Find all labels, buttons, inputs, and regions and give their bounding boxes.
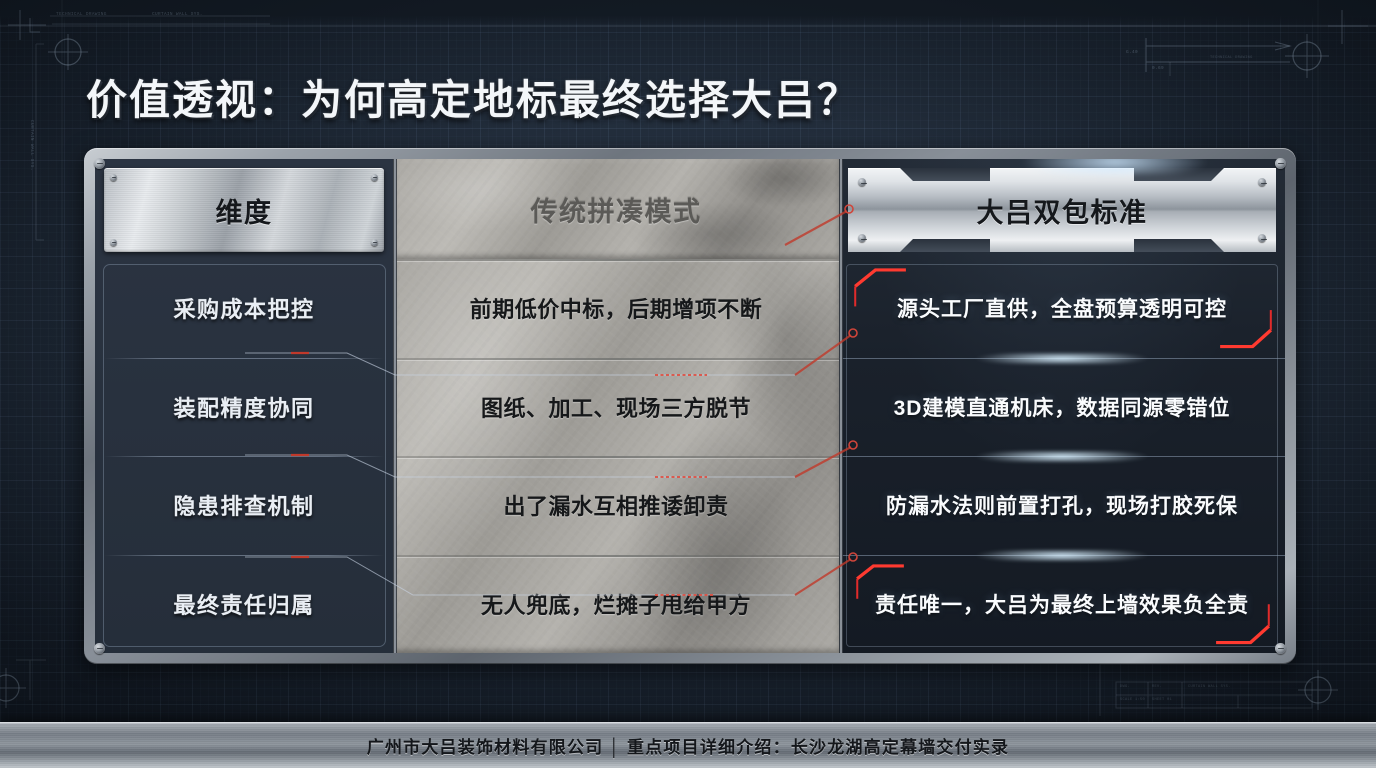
cell-daliu-3: 防漏水法则前置打孔，现场打胶死保 [886, 490, 1238, 520]
table-row[interactable]: 出了漏水互相推诿卸责 [393, 456, 839, 555]
row-separator [839, 358, 1285, 359]
cell-traditional-4: 无人兜底，烂摊子甩给甲方 [481, 588, 751, 620]
plate-screw-icon [371, 239, 378, 246]
table-row[interactable]: 隐患排查机制 [95, 456, 393, 555]
row-separator [393, 259, 839, 261]
header-cell-daliu: 大吕双包标准 [839, 159, 1285, 259]
table-row[interactable]: 防漏水法则前置打孔，现场打胶死保 [839, 456, 1285, 555]
cell-traditional-3: 出了漏水互相推诿卸责 [503, 489, 728, 521]
cell-dimension-4: 最终责任归属 [173, 588, 314, 620]
cell-traditional-1: 前期低价中标，后期增项不断 [470, 292, 763, 324]
row-separator [104, 358, 384, 359]
column-body-dimension: 采购成本把控 装配精度协同 隐患排查机制 最终责任归属 [95, 259, 393, 653]
plate-screw-icon [371, 174, 378, 181]
table-row[interactable]: 源头工厂直供，全盘预算透明可控 [839, 259, 1285, 358]
row-separator [839, 456, 1285, 457]
header-label-dimension: 维度 [216, 191, 273, 230]
comparison-table: 维度 采购成本把控 装配精度协同 隐患排查机制 [95, 159, 1285, 653]
cell-dimension-2: 装配精度协同 [173, 391, 314, 423]
cell-daliu-2: 3D建模直通机床，数据同源零错位 [894, 392, 1231, 422]
header-label-traditional: 传统拼凑模式 [531, 190, 702, 229]
column-body-daliu: 源头工厂直供，全盘预算透明可控 3D建模直通机床，数据同源零错位 防漏水法则前置… [839, 259, 1285, 653]
plate-screw-icon [110, 239, 117, 246]
chrome-corner-notch [1134, 239, 1224, 252]
brushed-metal-plate: 维度 [104, 168, 384, 252]
frame-screw-icon [1275, 158, 1286, 169]
frame-screw-icon [1275, 643, 1286, 654]
polished-chrome-plate: 大吕双包标准 [848, 168, 1276, 252]
header-label-daliu: 大吕双包标准 [977, 191, 1148, 230]
cell-daliu-1: 源头工厂直供，全盘预算透明可控 [897, 293, 1227, 323]
header-cell-traditional: 传统拼凑模式 [393, 159, 839, 259]
column-traditional: 传统拼凑模式 前期低价中标，后期增项不断 图纸、加工、现场三方脱节 [393, 159, 839, 653]
row-separator [393, 555, 839, 557]
column-divider [839, 159, 843, 653]
cell-daliu-4: 责任唯一，大吕为最终上墙效果负全责 [875, 589, 1249, 619]
comparison-table-frame: 维度 采购成本把控 装配精度协同 隐患排查机制 [84, 148, 1296, 664]
row-separator [104, 555, 384, 556]
table-row[interactable]: 无人兜底，烂摊子甩给甲方 [393, 555, 839, 654]
cell-traditional-2: 图纸、加工、现场三方脱节 [481, 391, 751, 423]
frame-screw-icon [94, 158, 105, 169]
table-row[interactable]: 最终责任归属 [95, 555, 393, 654]
footer-text: 广州市大吕装饰材料有限公司 │ 重点项目详细介绍：长沙龙湖高定幕墙交付实录 [367, 733, 1009, 758]
plate-screw-icon [858, 234, 866, 242]
plate-screw-icon [1258, 178, 1266, 186]
frame-screw-icon [94, 643, 105, 654]
table-row[interactable]: 前期低价中标，后期增项不断 [393, 259, 839, 358]
column-divider [393, 159, 397, 653]
column-daliu: 大吕双包标准 源头工厂直供，全盘预算透明可控 [839, 159, 1285, 653]
concrete-slab-header: 传统拼凑模式 [393, 159, 839, 259]
chrome-corner-notch [900, 168, 990, 181]
row-separator [839, 555, 1285, 556]
table-row[interactable]: 3D建模直通机床，数据同源零错位 [839, 358, 1285, 457]
plate-screw-icon [858, 178, 866, 186]
row-separator [393, 358, 839, 360]
row-separator [393, 456, 839, 458]
column-body-traditional: 前期低价中标，后期增项不断 图纸、加工、现场三方脱节 出了漏水互相推诿卸责 无人… [393, 259, 839, 653]
row-separator [104, 456, 384, 457]
cell-dimension-1: 采购成本把控 [173, 292, 314, 324]
table-row[interactable]: 图纸、加工、现场三方脱节 [393, 358, 839, 457]
plate-screw-icon [1258, 234, 1266, 242]
column-dimension: 维度 采购成本把控 装配精度协同 隐患排查机制 [95, 159, 393, 653]
plate-screw-icon [110, 174, 117, 181]
header-cell-dimension: 维度 [95, 159, 393, 259]
footer-top-edge [0, 722, 1376, 725]
table-row[interactable]: 采购成本把控 [95, 259, 393, 358]
footer-bar: 广州市大吕装饰材料有限公司 │ 重点项目详细介绍：长沙龙湖高定幕墙交付实录 [0, 722, 1376, 768]
table-row[interactable]: 装配精度协同 [95, 358, 393, 457]
table-row[interactable]: 责任唯一，大吕为最终上墙效果负全责 [839, 555, 1285, 654]
page-title: 价值透视：为何高定地标最终选择大吕？ [86, 66, 860, 126]
chrome-corner-notch [900, 239, 990, 252]
chrome-corner-notch [1134, 168, 1224, 181]
cell-dimension-3: 隐患排查机制 [173, 489, 314, 521]
